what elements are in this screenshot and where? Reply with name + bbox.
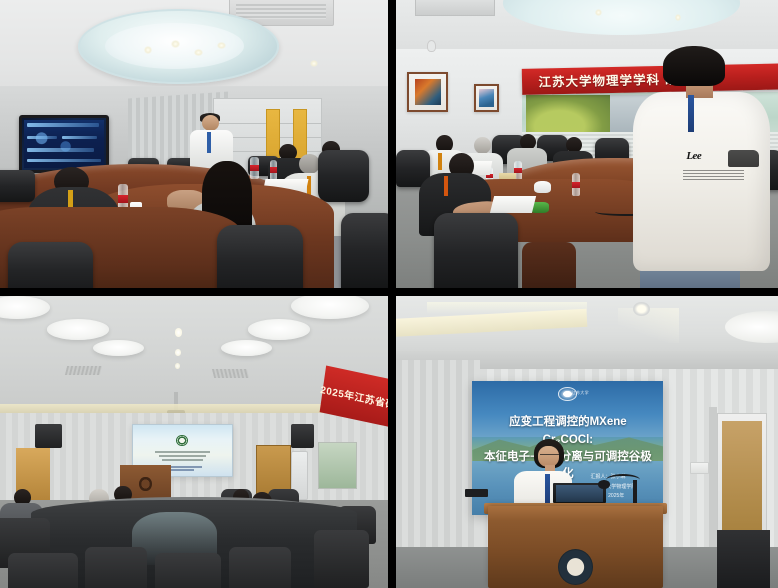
chair (8, 553, 78, 588)
water-bottle (572, 173, 580, 196)
ceiling-ac-vent (212, 369, 249, 378)
papers-on-table (489, 196, 535, 213)
panel-light (221, 340, 271, 356)
wall-speaker (35, 424, 62, 447)
ceiling-ac-vent (65, 366, 102, 375)
participant-lanyard (438, 153, 442, 170)
tv-poster-block (27, 136, 57, 140)
scene-meeting-with-banner: 江苏大学物理学学科 研讨 (396, 0, 778, 288)
chair (8, 242, 93, 288)
photo-top-right[interactable]: 江苏大学物理学学科 研讨 (396, 0, 778, 288)
door-frame (709, 407, 717, 547)
presenter-glasses-icon (540, 454, 559, 459)
university-logo-text: 江苏大学 (572, 390, 603, 397)
framed-artwork (474, 84, 499, 113)
chair (314, 530, 368, 588)
chair (217, 225, 302, 288)
slide-text-line (170, 469, 194, 471)
photo-collage: 江苏大学物理学学科 研讨 (0, 0, 778, 588)
chair (85, 547, 147, 588)
podium-emblem-icon (558, 549, 593, 585)
microphone-stem (633, 480, 637, 503)
chair (318, 150, 368, 202)
chair (0, 170, 35, 202)
wall-sensor-icon (427, 40, 436, 52)
photo-top-left[interactable] (0, 0, 388, 288)
spotlight-icon (175, 328, 183, 337)
podium-emblem-icon (139, 477, 151, 491)
photo-bottom-right[interactable]: 江苏大学 应变工程调控的MXene Cr₂COCl: 本征电子−空穴分离与可调控… (396, 296, 778, 588)
teapot (534, 181, 551, 193)
downlight-icon (171, 40, 180, 47)
podium (488, 506, 664, 588)
tv-poster-block (62, 136, 97, 140)
participant-head-grey-hair (299, 154, 320, 174)
panel-light (47, 319, 109, 339)
slide-text-line (162, 459, 204, 461)
standing-man-head (663, 46, 724, 86)
photo-bottom-left[interactable]: 2025年江苏省研究生 (0, 296, 388, 588)
standing-man-tshirt (633, 92, 771, 271)
window (318, 442, 357, 489)
ceiling-ac-vent (415, 0, 495, 16)
wooden-door (717, 413, 767, 541)
slide-text-line (159, 455, 206, 457)
presenter-lanyard (545, 474, 550, 506)
tshirt-subtext (683, 170, 744, 182)
tv-poster-header (27, 123, 99, 127)
scene-round-table-meeting (0, 0, 388, 288)
water-bottle (250, 157, 259, 179)
downlight-icon (595, 9, 602, 16)
chair (155, 553, 221, 588)
scene-presenter-at-podium: 江苏大学 应变工程调控的MXene Cr₂COCl: 本征电子−空穴分离与可调控… (396, 296, 778, 588)
framed-artwork (407, 72, 447, 112)
tv-poster-block (27, 148, 94, 152)
tshirt-car-graphic-icon (728, 150, 759, 167)
slide-title-line-1: 应变工程调控的MXene Cr₂COCl: (509, 416, 627, 445)
chair (341, 213, 388, 288)
slide-text-line (155, 451, 210, 453)
artwork-canvas (479, 89, 494, 107)
standing-man-lanyard (688, 95, 694, 132)
participant-lanyard (444, 176, 449, 196)
university-emblem-icon (176, 435, 188, 446)
chair-wooden-arm (522, 242, 575, 288)
podium-object (465, 489, 488, 498)
wall-mounted-tv (19, 115, 108, 173)
banner-text: 2025年江苏省研究生 (320, 381, 388, 416)
speaker-lanyard (207, 132, 211, 152)
water-bottle (270, 160, 278, 180)
artwork-canvas (415, 79, 441, 105)
chair (434, 213, 518, 288)
downlight-icon (675, 14, 681, 20)
wall-speaker (291, 424, 314, 447)
participant-head-grey-hair (474, 137, 491, 154)
chair (229, 547, 291, 588)
panel-light (248, 319, 310, 339)
floor-speaker (717, 530, 770, 588)
downlight-icon (144, 46, 153, 53)
speaker-head (202, 115, 219, 131)
tv-poster-footer (27, 159, 100, 162)
light-switch[interactable] (690, 462, 709, 474)
spotlight-icon (175, 349, 181, 356)
panel-light (93, 340, 143, 356)
scene-lecture-hall-wide: 2025年江苏省研究生 (0, 296, 388, 588)
